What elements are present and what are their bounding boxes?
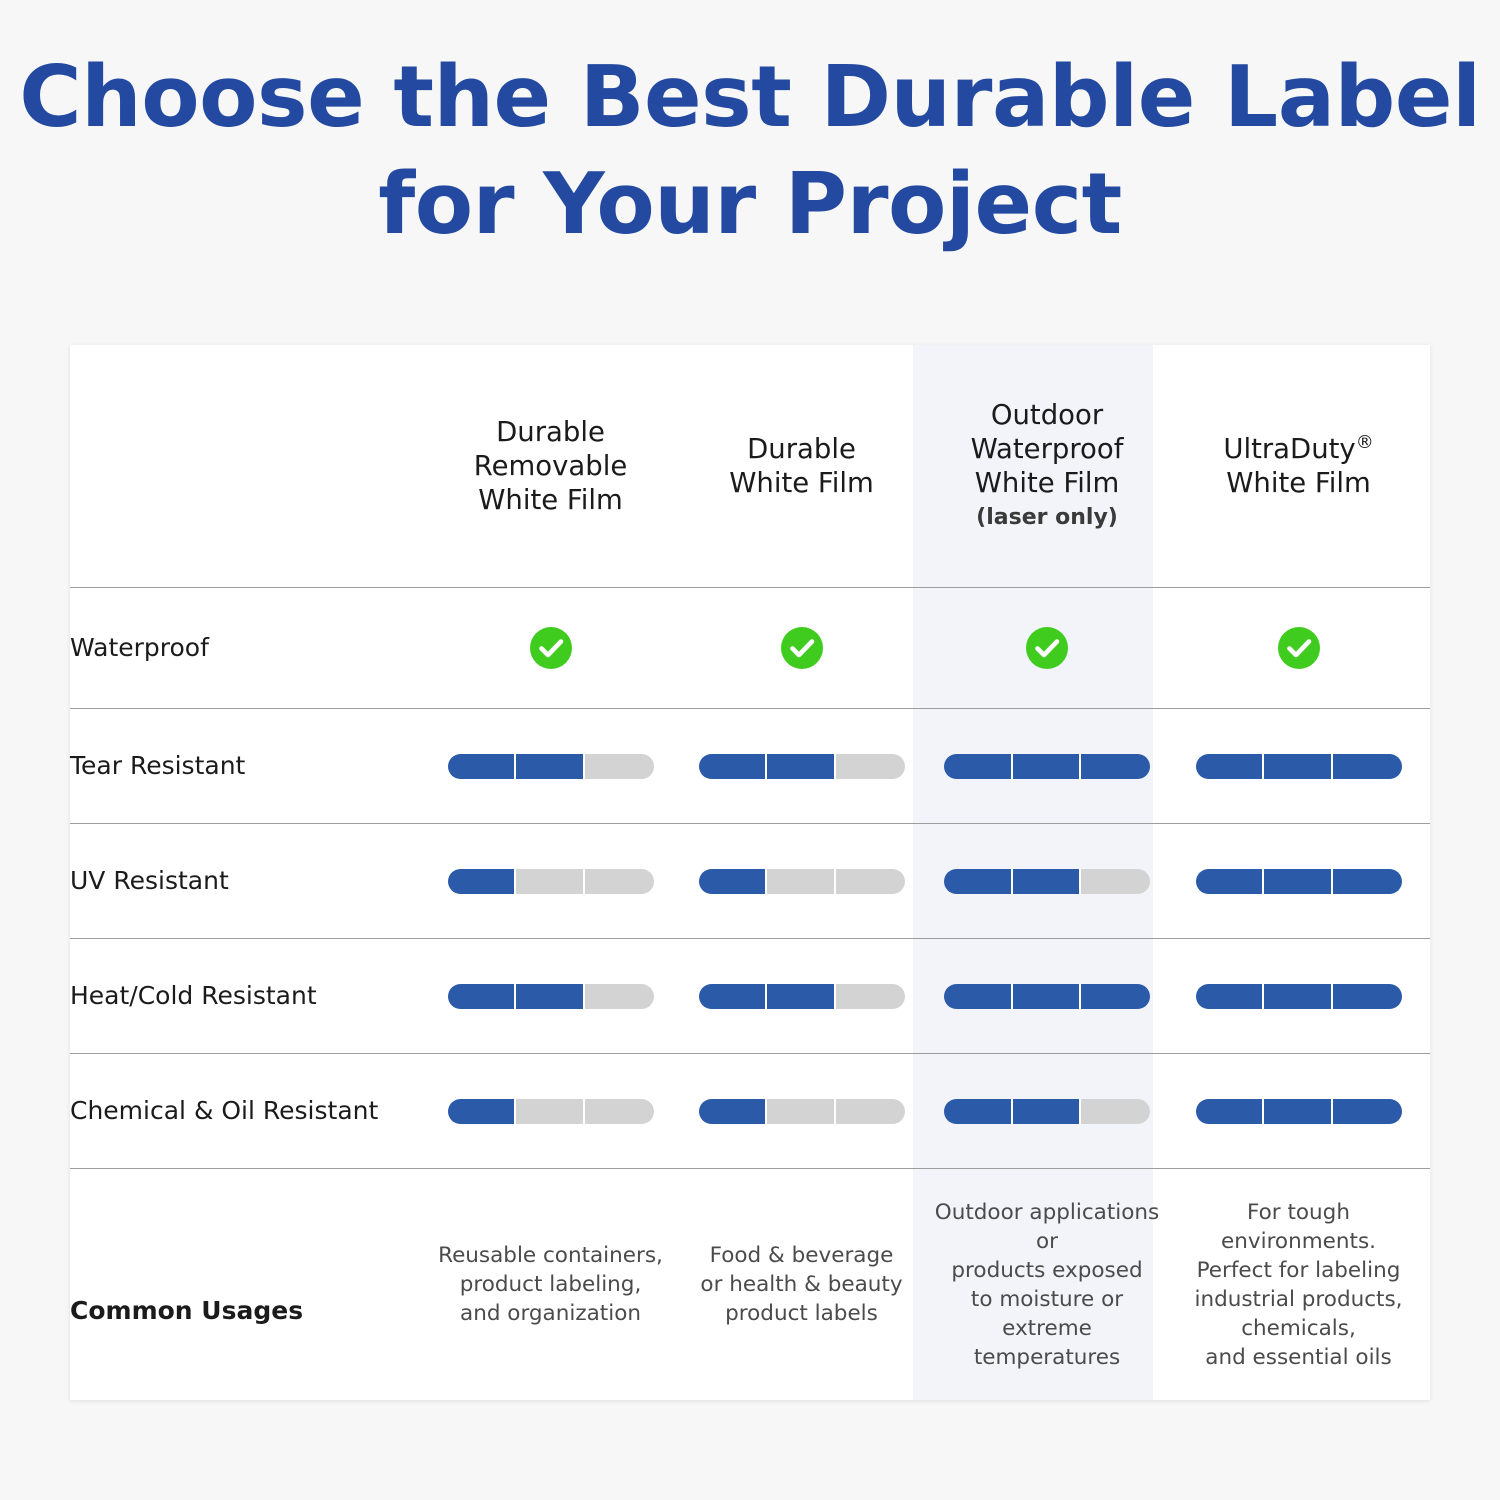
rating-segment xyxy=(585,869,654,894)
rating-segment xyxy=(448,984,517,1009)
header-blank-cell xyxy=(70,345,425,587)
rating-segment xyxy=(1081,984,1150,1009)
rating-segment xyxy=(836,1099,905,1124)
rating-bar xyxy=(1196,1099,1402,1124)
cell-chemical-durable-removable xyxy=(425,1054,676,1169)
rating-segment xyxy=(516,869,585,894)
rating-bar xyxy=(699,984,905,1009)
rating-bar xyxy=(699,1099,905,1124)
rating-segment xyxy=(448,1099,517,1124)
page-title-line-1: Choose the Best Durable Label xyxy=(0,44,1500,151)
rating-segment xyxy=(448,869,517,894)
table-row: Common Usages Reusable containers, produ… xyxy=(70,1169,1430,1400)
table-row: Waterproof xyxy=(70,587,1430,708)
check-circle-icon xyxy=(1024,625,1070,671)
rating-bar xyxy=(944,869,1150,894)
cell-uv-durable-removable xyxy=(425,824,676,939)
row-label-common-usages: Common Usages xyxy=(70,1169,425,1400)
cell-chemical-durable xyxy=(676,1054,927,1169)
column-header-outdoor-waterproof: Outdoor Waterproof White Film (laser onl… xyxy=(927,345,1167,587)
rating-bar xyxy=(944,984,1150,1009)
registered-trademark-icon: ® xyxy=(1356,432,1374,453)
rating-segment xyxy=(1013,1099,1082,1124)
rating-bar xyxy=(448,869,654,894)
rating-segment xyxy=(448,754,517,779)
rating-segment xyxy=(1264,869,1333,894)
rating-segment xyxy=(1196,754,1265,779)
cell-heat-durable xyxy=(676,939,927,1054)
column-header-label: Durable Removable White Film xyxy=(474,416,628,516)
rating-segment xyxy=(1196,869,1265,894)
cell-tear-outdoor-waterproof xyxy=(927,709,1167,824)
rating-segment xyxy=(1333,754,1402,779)
rating-segment xyxy=(516,984,585,1009)
cell-uv-durable xyxy=(676,824,927,939)
cell-waterproof-ultraduty xyxy=(1167,587,1430,708)
rating-segment xyxy=(767,754,836,779)
rating-segment xyxy=(1264,1099,1333,1124)
cell-tear-ultraduty xyxy=(1167,709,1430,824)
column-header-label: UltraDuty®White Film xyxy=(1223,433,1373,499)
rating-segment xyxy=(699,754,768,779)
cell-waterproof-outdoor-waterproof xyxy=(927,587,1167,708)
rating-segment xyxy=(1013,754,1082,779)
rating-bar xyxy=(1196,984,1402,1009)
rating-segment xyxy=(1333,984,1402,1009)
cell-heat-outdoor-waterproof xyxy=(927,939,1167,1054)
rating-segment xyxy=(585,1099,654,1124)
row-label-waterproof: Waterproof xyxy=(70,587,425,708)
row-label-tear-resistant: Tear Resistant xyxy=(70,709,425,824)
check-circle-icon xyxy=(779,625,825,671)
cell-chemical-outdoor-waterproof xyxy=(927,1054,1167,1169)
rating-segment xyxy=(1264,984,1333,1009)
column-header-ultraduty: UltraDuty®White Film xyxy=(1167,345,1430,587)
column-header-durable-removable: Durable Removable White Film xyxy=(425,345,676,587)
rating-segment xyxy=(836,754,905,779)
rating-bar xyxy=(1196,869,1402,894)
rating-segment xyxy=(516,754,585,779)
page-title-line-2: for Your Project xyxy=(0,151,1500,258)
cell-heat-durable-removable xyxy=(425,939,676,1054)
page-title: Choose the Best Durable Label for Your P… xyxy=(0,44,1500,258)
table-row: Chemical & Oil Resistant xyxy=(70,1054,1430,1169)
rating-segment xyxy=(1196,1099,1265,1124)
rating-bar xyxy=(699,869,905,894)
usage-text-outdoor-waterproof: Outdoor applications or products exposed… xyxy=(927,1169,1167,1400)
rating-segment xyxy=(1081,754,1150,779)
rating-segment xyxy=(1264,754,1333,779)
rating-segment xyxy=(1196,984,1265,1009)
rating-segment xyxy=(1013,869,1082,894)
rating-segment xyxy=(767,984,836,1009)
rating-bar xyxy=(1196,754,1402,779)
rating-segment xyxy=(699,1099,768,1124)
cell-waterproof-durable-removable xyxy=(425,587,676,708)
row-label-uv-resistant: UV Resistant xyxy=(70,824,425,939)
table-header-row: Durable Removable White Film Durable Whi… xyxy=(70,345,1430,587)
rating-segment xyxy=(944,1099,1013,1124)
comparison-table-card: Durable Removable White Film Durable Whi… xyxy=(70,345,1430,1400)
usage-text-ultraduty: For tough environments. Perfect for labe… xyxy=(1167,1169,1430,1400)
rating-segment xyxy=(836,984,905,1009)
brand-name: UltraDuty xyxy=(1223,433,1355,465)
rating-segment xyxy=(944,869,1013,894)
rating-segment xyxy=(767,869,836,894)
rating-bar xyxy=(944,754,1150,779)
column-header-label: Outdoor Waterproof White Film xyxy=(971,399,1124,499)
rating-segment xyxy=(585,754,654,779)
comparison-chart-page: Choose the Best Durable Label for Your P… xyxy=(0,0,1500,1500)
table-row: Tear Resistant xyxy=(70,709,1430,824)
column-header-sublabel: White Film xyxy=(1226,467,1371,499)
rating-segment xyxy=(1333,869,1402,894)
check-circle-icon xyxy=(528,625,574,671)
cell-tear-durable xyxy=(676,709,927,824)
rating-segment xyxy=(836,869,905,894)
usage-text-durable: Food & beverage or health & beauty produ… xyxy=(676,1169,927,1400)
usage-text-durable-removable: Reusable containers, product labeling, a… xyxy=(425,1169,676,1400)
column-header-note: (laser only) xyxy=(927,502,1167,534)
cell-uv-ultraduty xyxy=(1167,824,1430,939)
rating-segment xyxy=(1333,1099,1402,1124)
rating-segment xyxy=(699,869,768,894)
rating-bar xyxy=(448,754,654,779)
rating-segment xyxy=(699,984,768,1009)
rating-bar xyxy=(699,754,905,779)
table-row: UV Resistant xyxy=(70,824,1430,939)
rating-bar xyxy=(448,1099,654,1124)
rating-segment xyxy=(767,1099,836,1124)
cell-uv-outdoor-waterproof xyxy=(927,824,1167,939)
rating-segment xyxy=(1013,984,1082,1009)
rating-segment xyxy=(1081,1099,1150,1124)
cell-chemical-ultraduty xyxy=(1167,1054,1430,1169)
rating-segment xyxy=(944,984,1013,1009)
rating-bar xyxy=(944,1099,1150,1124)
rating-bar xyxy=(448,984,654,1009)
cell-waterproof-durable xyxy=(676,587,927,708)
row-label-heat-cold-resistant: Heat/Cold Resistant xyxy=(70,939,425,1054)
comparison-table: Durable Removable White Film Durable Whi… xyxy=(70,345,1430,1400)
cell-tear-durable-removable xyxy=(425,709,676,824)
cell-heat-ultraduty xyxy=(1167,939,1430,1054)
rating-segment xyxy=(516,1099,585,1124)
column-header-label: Durable White Film xyxy=(729,433,874,499)
rating-segment xyxy=(1081,869,1150,894)
rating-segment xyxy=(944,754,1013,779)
row-label-chemical-oil-resistant: Chemical & Oil Resistant xyxy=(70,1054,425,1169)
check-circle-icon xyxy=(1276,625,1322,671)
column-header-durable: Durable White Film xyxy=(676,345,927,587)
rating-segment xyxy=(585,984,654,1009)
table-row: Heat/Cold Resistant xyxy=(70,939,1430,1054)
